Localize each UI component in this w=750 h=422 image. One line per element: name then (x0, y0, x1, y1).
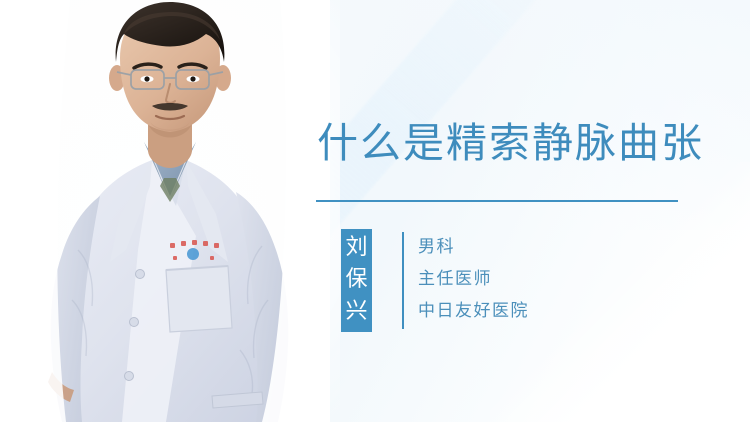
doctor-name-char-3: 兴 (341, 296, 372, 328)
doctor-photo (0, 0, 330, 422)
doctor-title-rank: 主任医师 (418, 263, 529, 295)
doctor-name-badge: 刘 保 兴 (341, 229, 372, 332)
title-divider (316, 200, 678, 202)
doctor-info-block: 刘 保 兴 男科 主任医师 中日友好医院 (341, 229, 529, 332)
doctor-hospital: 中日友好医院 (418, 295, 529, 327)
doctor-name-char-1: 刘 (341, 232, 372, 264)
info-vertical-separator (402, 232, 404, 329)
doctor-name-char-2: 保 (341, 264, 372, 296)
doctor-credentials-list: 男科 主任医师 中日友好医院 (418, 231, 529, 327)
page-title: 什么是精索静脉曲张 (317, 120, 704, 167)
doctor-portrait-illustration (0, 0, 330, 422)
video-cover-card: 什么是精索静脉曲张 刘 保 兴 男科 主任医师 中日友好医院 (0, 0, 750, 422)
doctor-department: 男科 (418, 231, 529, 263)
